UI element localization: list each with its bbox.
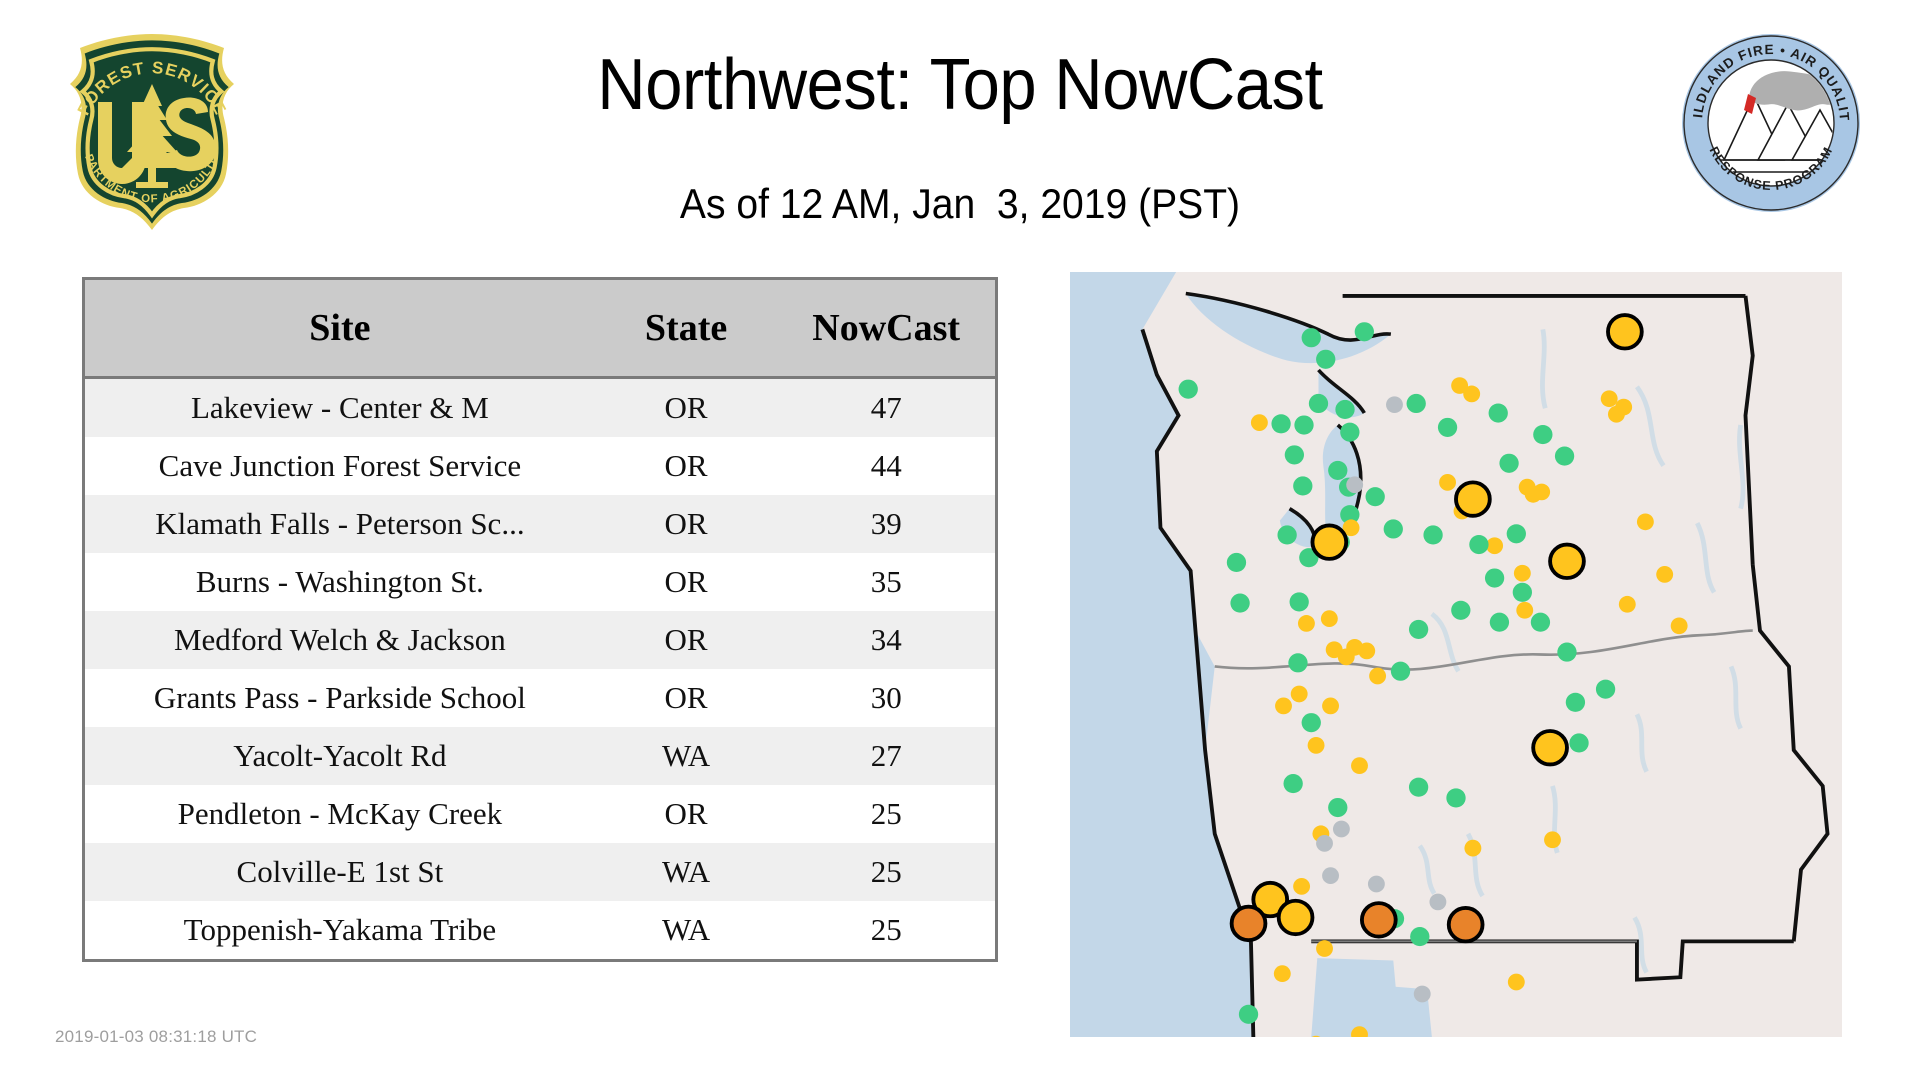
nowcast-cell: 47 bbox=[777, 378, 996, 438]
monitor-dot[interactable] bbox=[1316, 350, 1335, 369]
table-row[interactable]: Pendleton - McKay CreekOR25 bbox=[84, 785, 997, 843]
monitor-dot[interactable] bbox=[1464, 840, 1481, 857]
monitor-dot[interactable] bbox=[1619, 596, 1636, 613]
site-cell: Grants Pass - Parkside School bbox=[84, 669, 595, 727]
table-row[interactable]: Medford Welch & JacksonOR34 bbox=[84, 611, 997, 669]
monitor-dot[interactable] bbox=[1274, 965, 1291, 982]
monitor-dot[interactable] bbox=[1569, 733, 1588, 752]
monitor-dot[interactable] bbox=[1507, 524, 1526, 543]
monitor-dot[interactable] bbox=[1368, 876, 1385, 893]
column-header-nowcast[interactable]: NowCast bbox=[777, 279, 996, 378]
monitor-dot[interactable] bbox=[1409, 778, 1428, 797]
site-cell: Cave Junction Forest Service bbox=[84, 437, 595, 495]
monitor-dot[interactable] bbox=[1340, 423, 1359, 442]
monitor-dot[interactable] bbox=[1179, 380, 1198, 399]
state-cell: OR bbox=[595, 553, 778, 611]
state-cell: OR bbox=[595, 611, 778, 669]
nowcast-cell: 35 bbox=[777, 553, 996, 611]
state-cell: OR bbox=[595, 669, 778, 727]
highlighted-monitor-dot[interactable] bbox=[1279, 901, 1313, 934]
monitor-dot[interactable] bbox=[1308, 737, 1325, 754]
monitor-dot[interactable] bbox=[1251, 414, 1268, 431]
state-cell: WA bbox=[595, 727, 778, 785]
monitor-dot[interactable] bbox=[1438, 418, 1457, 437]
nowcast-cell: 25 bbox=[777, 901, 996, 961]
nowcast-cell: 25 bbox=[777, 785, 996, 843]
monitor-dot[interactable] bbox=[1302, 713, 1321, 732]
table-header-row: Site State NowCast bbox=[84, 279, 997, 378]
state-cell: OR bbox=[595, 437, 778, 495]
monitor-dot[interactable] bbox=[1637, 513, 1654, 530]
page-title: Northwest: Top NowCast bbox=[309, 48, 1611, 124]
monitor-dot[interactable] bbox=[1351, 757, 1368, 774]
monitor-dot[interactable] bbox=[1384, 519, 1403, 538]
monitor-dot[interactable] bbox=[1316, 940, 1333, 957]
monitor-dot[interactable] bbox=[1290, 592, 1309, 611]
table-row[interactable]: Toppenish-Yakama TribeWA25 bbox=[84, 901, 997, 961]
state-cell: OR bbox=[595, 495, 778, 553]
site-cell: Klamath Falls - Peterson Sc... bbox=[84, 495, 595, 553]
monitor-dot[interactable] bbox=[1275, 698, 1292, 715]
site-cell: Lakeview - Center & M bbox=[84, 378, 595, 438]
monitor-dot[interactable] bbox=[1386, 396, 1403, 413]
monitor-dot[interactable] bbox=[1322, 698, 1339, 715]
monitor-dot[interactable] bbox=[1294, 415, 1313, 434]
monitor-dot[interactable] bbox=[1566, 693, 1585, 712]
monitor-dot[interactable] bbox=[1291, 686, 1308, 703]
monitor-dot[interactable] bbox=[1423, 525, 1442, 544]
monitor-dot[interactable] bbox=[1328, 461, 1347, 480]
monitor-dot[interactable] bbox=[1277, 525, 1296, 544]
monitor-dot[interactable] bbox=[1671, 617, 1688, 634]
highlighted-monitor-dot[interactable] bbox=[1362, 903, 1396, 936]
site-cell: Medford Welch & Jackson bbox=[84, 611, 595, 669]
monitor-dot[interactable] bbox=[1293, 476, 1312, 495]
state-cell: OR bbox=[595, 378, 778, 438]
table-row[interactable]: Burns - Washington St.OR35 bbox=[84, 553, 997, 611]
nowcast-cell: 27 bbox=[777, 727, 996, 785]
monitor-dot[interactable] bbox=[1439, 474, 1456, 491]
monitor-dot[interactable] bbox=[1309, 394, 1328, 413]
monitor-dot[interactable] bbox=[1533, 425, 1552, 444]
monitor-dot[interactable] bbox=[1513, 583, 1532, 602]
site-cell: Colville-E 1st St bbox=[84, 843, 595, 901]
monitor-dot[interactable] bbox=[1285, 445, 1304, 464]
monitor-dot[interactable] bbox=[1414, 986, 1431, 1003]
state-cell: WA bbox=[595, 843, 778, 901]
monitor-dot[interactable] bbox=[1429, 894, 1446, 911]
forest-service-logo: FOREST SERVICE DEPARTMENT OF AGRICULTURE bbox=[52, 28, 252, 238]
table-row[interactable]: Yacolt-Yacolt RdWA27 bbox=[84, 727, 997, 785]
table-row[interactable]: Cave Junction Forest ServiceOR44 bbox=[84, 437, 997, 495]
monitor-dot[interactable] bbox=[1410, 927, 1429, 946]
monitor-dot[interactable] bbox=[1516, 602, 1533, 619]
monitor-dot[interactable] bbox=[1490, 613, 1509, 632]
monitor-dot[interactable] bbox=[1544, 831, 1561, 848]
monitor-dot[interactable] bbox=[1293, 878, 1310, 895]
top-nowcast-table: Site State NowCast Lakeview - Center & M… bbox=[82, 277, 998, 962]
table-row[interactable]: Klamath Falls - Peterson Sc...OR39 bbox=[84, 495, 997, 553]
monitor-dot[interactable] bbox=[1346, 476, 1363, 493]
monitor-dot[interactable] bbox=[1284, 774, 1303, 793]
monitor-dot[interactable] bbox=[1533, 484, 1550, 501]
monitor-dot[interactable] bbox=[1489, 403, 1508, 422]
monitor-dot[interactable] bbox=[1463, 386, 1480, 403]
monitor-dot[interactable] bbox=[1555, 447, 1574, 466]
monitor-dot[interactable] bbox=[1391, 662, 1410, 681]
monitor-dot[interactable] bbox=[1316, 835, 1333, 852]
monitor-dot[interactable] bbox=[1227, 553, 1246, 572]
monitor-dot[interactable] bbox=[1322, 867, 1339, 884]
monitor-dot[interactable] bbox=[1486, 537, 1503, 554]
monitor-dot[interactable] bbox=[1271, 414, 1290, 433]
monitor-dot[interactable] bbox=[1366, 487, 1385, 506]
column-header-state[interactable]: State bbox=[595, 279, 778, 378]
table-row[interactable]: Grants Pass - Parkside SchoolOR30 bbox=[84, 669, 997, 727]
monitor-dot[interactable] bbox=[1288, 653, 1307, 672]
monitor-dot[interactable] bbox=[1469, 535, 1488, 554]
monitor-dot[interactable] bbox=[1508, 974, 1525, 991]
monitor-dot[interactable] bbox=[1355, 322, 1374, 341]
monitor-dot[interactable] bbox=[1358, 643, 1375, 660]
highlighted-monitor-dot[interactable] bbox=[1533, 731, 1567, 764]
site-cell: Burns - Washington St. bbox=[84, 553, 595, 611]
nowcast-cell: 34 bbox=[777, 611, 996, 669]
monitor-dot[interactable] bbox=[1656, 566, 1673, 583]
monitor-dot[interactable] bbox=[1499, 454, 1518, 473]
state-cell: OR bbox=[595, 785, 778, 843]
monitor-dot[interactable] bbox=[1407, 394, 1426, 413]
column-header-site[interactable]: Site bbox=[84, 279, 595, 378]
highlighted-monitor-dot[interactable] bbox=[1232, 907, 1266, 940]
monitor-dot[interactable] bbox=[1321, 610, 1338, 627]
nowcast-cell: 39 bbox=[777, 495, 996, 553]
nowcast-cell: 44 bbox=[777, 437, 996, 495]
generated-timestamp: 2019-01-03 08:31:18 UTC bbox=[55, 1027, 257, 1047]
monitor-dot[interactable] bbox=[1596, 680, 1615, 699]
state-cell: WA bbox=[595, 901, 778, 961]
highlighted-monitor-dot[interactable] bbox=[1550, 545, 1584, 578]
monitor-dot[interactable] bbox=[1335, 400, 1354, 419]
air-quality-map[interactable] bbox=[1070, 272, 1842, 1037]
table-row[interactable]: Colville-E 1st StWA25 bbox=[84, 843, 997, 901]
highlighted-monitor-dot[interactable] bbox=[1312, 525, 1346, 558]
monitor-dot[interactable] bbox=[1557, 643, 1576, 662]
monitor-dot[interactable] bbox=[1514, 565, 1531, 582]
monitor-dot[interactable] bbox=[1328, 798, 1347, 817]
monitor-dot[interactable] bbox=[1601, 390, 1618, 407]
nowcast-cell: 30 bbox=[777, 669, 996, 727]
page-subtitle: As of 12 AM, Jan 3, 2019 (PST) bbox=[309, 180, 1611, 228]
site-cell: Pendleton - McKay Creek bbox=[84, 785, 595, 843]
monitor-dot[interactable] bbox=[1298, 615, 1315, 632]
site-cell: Yacolt-Yacolt Rd bbox=[84, 727, 595, 785]
monitor-dot[interactable] bbox=[1333, 821, 1350, 838]
highlighted-monitor-dot[interactable] bbox=[1449, 908, 1483, 941]
monitor-dot[interactable] bbox=[1531, 613, 1550, 632]
monitor-dot[interactable] bbox=[1239, 1005, 1258, 1024]
highlighted-monitor-dot[interactable] bbox=[1456, 482, 1490, 515]
monitor-dot[interactable] bbox=[1409, 620, 1428, 639]
monitor-dot[interactable] bbox=[1302, 328, 1321, 347]
monitor-dot[interactable] bbox=[1230, 594, 1249, 613]
monitor-dot[interactable] bbox=[1485, 568, 1504, 587]
nowcast-cell: 25 bbox=[777, 843, 996, 901]
highlighted-monitor-dot[interactable] bbox=[1608, 315, 1642, 348]
monitor-dot[interactable] bbox=[1446, 788, 1465, 807]
table-row[interactable]: Lakeview - Center & MOR47 bbox=[84, 378, 997, 438]
monitor-dot[interactable] bbox=[1451, 601, 1470, 620]
site-cell: Toppenish-Yakama Tribe bbox=[84, 901, 595, 961]
wfaqrp-logo: WILDLAND FIRE • AIR QUALITY RESPONSE PRO… bbox=[1680, 32, 1862, 214]
monitor-dot[interactable] bbox=[1615, 399, 1632, 416]
monitor-dot[interactable] bbox=[1369, 668, 1386, 685]
